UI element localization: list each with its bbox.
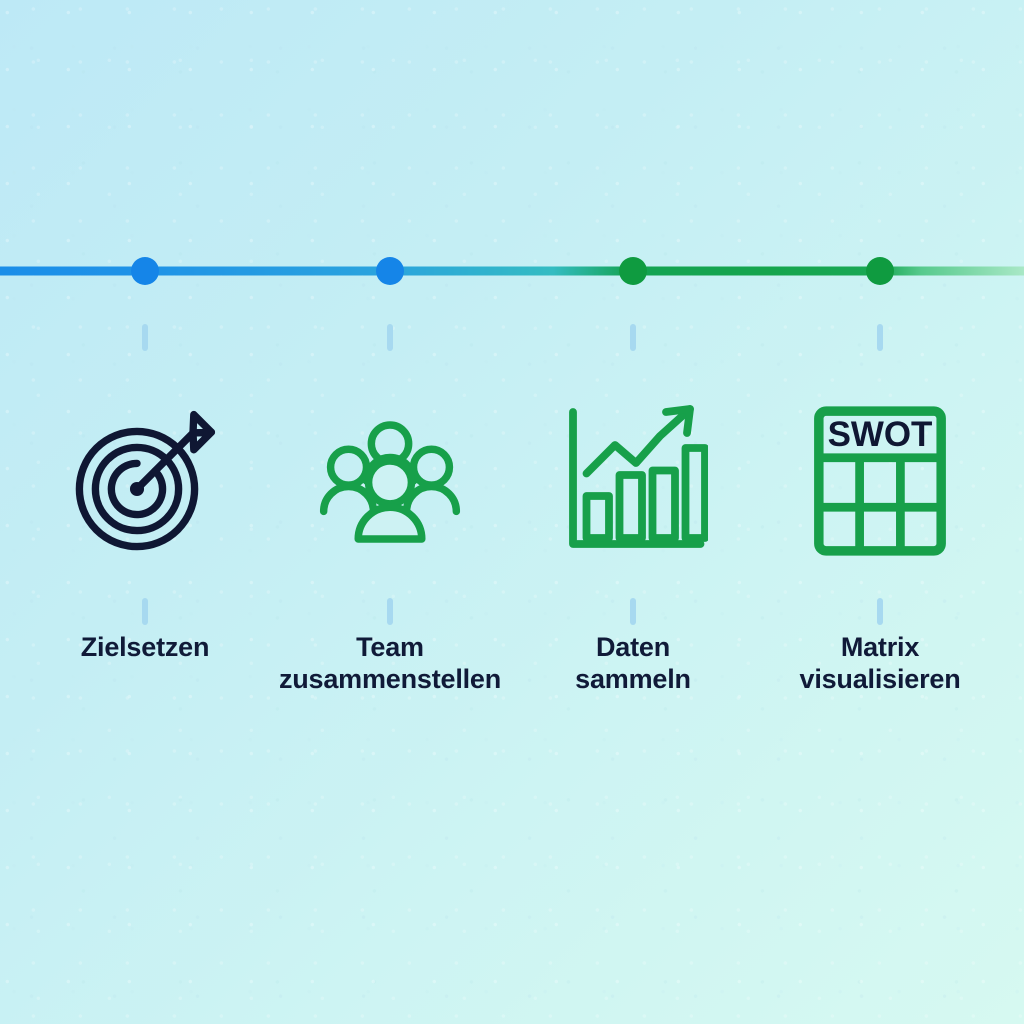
icon-wrap-4: SWOT	[755, 392, 1005, 570]
icon-wrap-3	[508, 392, 758, 570]
process-step-3[interactable]: Daten sammeln	[508, 392, 758, 696]
step-label-1: Zielsetzen	[20, 632, 270, 664]
swot-matrix-icon: SWOT	[813, 405, 947, 557]
step-label-2: Team zusammenstellen	[265, 632, 515, 696]
process-step-1[interactable]: Zielsetzen	[20, 392, 270, 664]
step-label-3: Daten sammeln	[508, 632, 758, 696]
swot-matrix-title: SWOT	[828, 415, 933, 454]
bar-chart-growth-icon	[558, 402, 708, 560]
icon-wrap-2	[265, 392, 515, 570]
target-arrow-icon	[65, 401, 225, 561]
diagram-canvas: Zielsetzen Tea	[0, 0, 1024, 1024]
process-step-4[interactable]: SWOT Matrix visualisieren	[755, 392, 1005, 696]
team-people-icon	[314, 408, 466, 554]
process-step-2[interactable]: Team zusammenstellen	[265, 392, 515, 696]
process-step-list: Zielsetzen Tea	[0, 0, 1024, 1024]
step-label-4: Matrix visualisieren	[755, 632, 1005, 696]
icon-wrap-1	[20, 392, 270, 570]
